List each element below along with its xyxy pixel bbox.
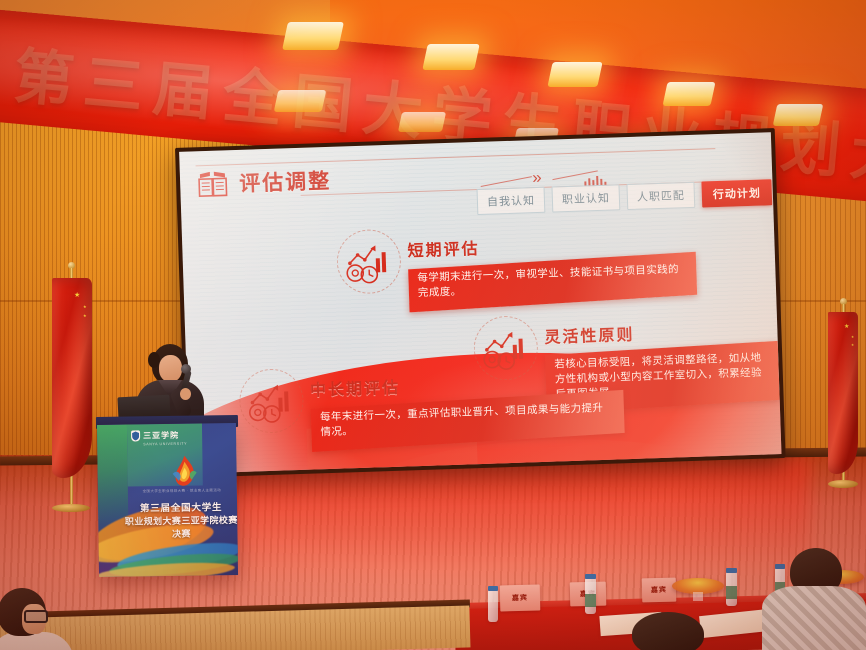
led-presentation-screen: 评估调整 » 自我认知 职业认知 人职匹配 行动计划 <box>175 128 786 478</box>
open-book-icon <box>196 168 231 199</box>
podium-title-line2: 职业规划大赛三亚学院校赛决赛 <box>122 513 238 541</box>
microphone-head <box>181 364 191 374</box>
ceiling-light <box>547 62 602 87</box>
water-bottle <box>488 590 498 622</box>
podium-title-line1: 第三届全国大学生 <box>128 499 234 514</box>
university-logo-subtext: SANYA UNIVERSITY <box>143 442 187 447</box>
tab-self-awareness[interactable]: 自我认知 <box>477 187 546 215</box>
name-card: 嘉宾 <box>500 585 541 612</box>
tab-career-awareness[interactable]: 职业认知 <box>551 184 620 212</box>
card-short-term-review: 短期评估 每学期末进行一次，审视学业、技能证书与项目实践的完成度。 <box>336 219 697 311</box>
ceiling-light <box>274 90 327 112</box>
name-card: 嘉宾 <box>642 578 677 603</box>
chart-gear-clock-icon <box>238 368 304 434</box>
header-accent-line <box>481 176 532 187</box>
ceiling-light <box>282 22 344 50</box>
presenter-face <box>159 355 182 382</box>
conference-hall-photo: 第三届全国大学生职业规划大赛 <box>0 0 866 650</box>
university-logo-text: 三亚学院 <box>143 430 179 442</box>
ceiling-light <box>773 104 824 126</box>
card-text: 每年末进行一次，重点评估职业晋升、项目成果与能力提升情况。 <box>320 401 611 441</box>
bottle-cap <box>726 568 737 573</box>
fruit-platter-stand <box>693 592 703 601</box>
card-body: 中长期评估 每年末进行一次，重点评估职业晋升、项目成果与能力提升情况。 <box>309 357 624 448</box>
presenter-hand <box>180 388 191 400</box>
slide-title: 评估调整 <box>239 165 332 198</box>
podium-tagline: 全国大学生职业规划大赛 · 就业育人主题活动 <box>132 487 232 493</box>
slide-header: 评估调整 <box>196 165 332 199</box>
slide-tab-bar: 自我认知 职业认知 人职匹配 行动计划 <box>477 179 773 215</box>
eyeglasses-icon <box>24 610 48 623</box>
header-rule <box>196 148 716 166</box>
tab-person-job-match[interactable]: 人职匹配 <box>626 182 695 210</box>
bottle-cap <box>775 564 785 569</box>
wall-seam <box>775 300 866 302</box>
ceiling-light <box>422 44 480 70</box>
card-body: 短期评估 每学期末进行一次，审视学业、技能证书与项目实践的完成度。 <box>407 219 698 309</box>
bottle-label <box>726 586 737 599</box>
shield-icon <box>131 430 140 441</box>
card-mid-long-term-review: 中长期评估 每年末进行一次，重点评估职业晋升、项目成果与能力提升情况。 <box>238 357 624 450</box>
bottle-cap <box>585 574 596 579</box>
ceiling-light <box>398 112 446 132</box>
name-card-label: 嘉宾 <box>651 585 667 595</box>
ceiling-light <box>662 82 715 106</box>
name-card-label: 嘉宾 <box>512 593 528 603</box>
bottle-cap <box>488 586 498 591</box>
chart-gear-clock-icon <box>336 229 402 295</box>
university-logo: 三亚学院 <box>131 430 179 442</box>
card-ribbon: 每学期末进行一次，审视学业、技能证书与项目实践的完成度。 <box>408 252 697 313</box>
slide-surface: 评估调整 » 自我认知 职业认知 人职匹配 行动计划 <box>179 132 781 473</box>
tab-action-plan[interactable]: 行动计划 <box>701 179 772 207</box>
chevron-right-icon: » <box>532 168 542 188</box>
audience-member-front-left <box>0 588 68 650</box>
bottle-label <box>585 594 596 607</box>
podium: 三亚学院 SANYA UNIVERSITY 全国大学生职业规划大赛 · 就业育人… <box>97 423 238 577</box>
card-text: 每学期末进行一次，审视学业、技能证书与项目实践的完成度。 <box>417 262 683 301</box>
competition-flame-logo <box>169 454 199 488</box>
